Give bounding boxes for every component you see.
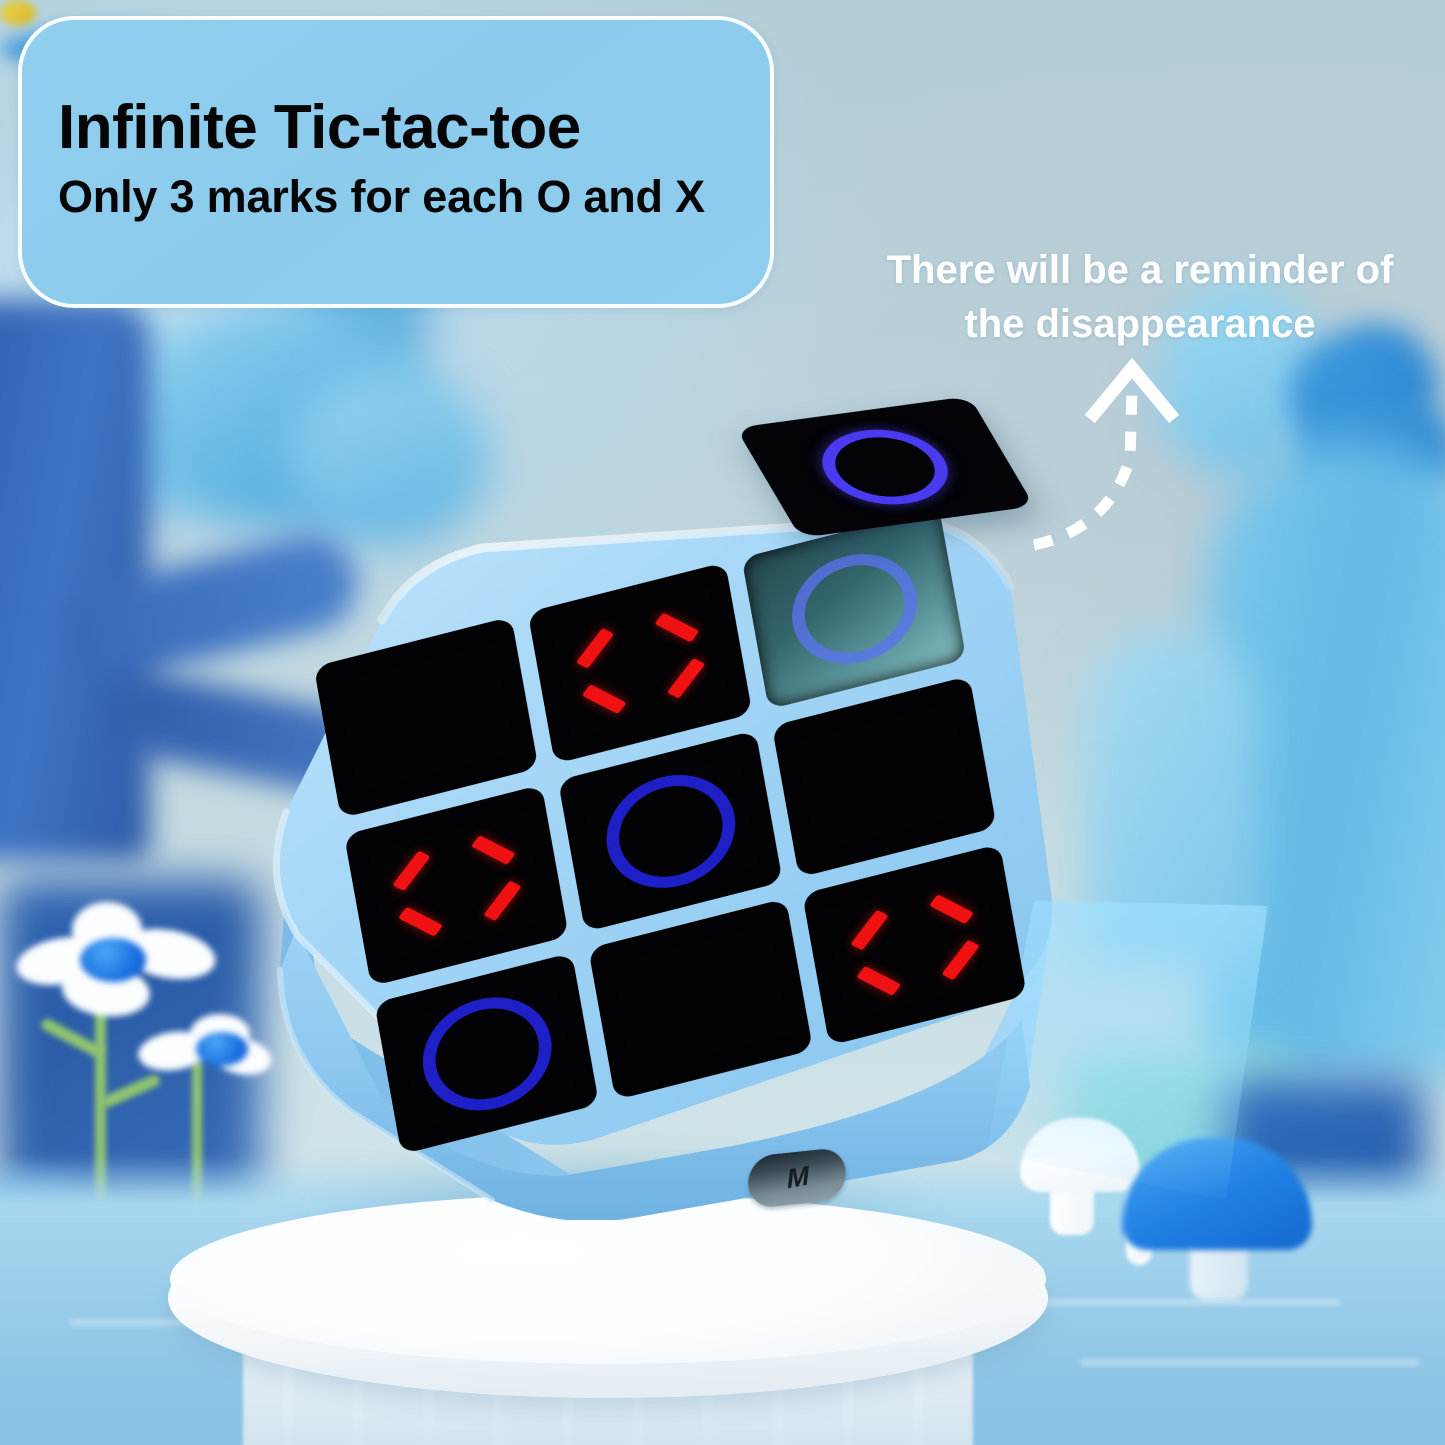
grid-cell-r2c2[interactable] (558, 730, 783, 932)
tic-tac-toe-device[interactable]: M (262, 500, 1122, 1260)
page-subtitle: Only 3 marks for each O and X (58, 171, 705, 223)
grid-cell-r3c1[interactable] (374, 953, 599, 1155)
grid-cell-r2c3[interactable] (772, 676, 997, 878)
callout-line-2: the disappearance (840, 297, 1440, 351)
mark-o-r2c2 (597, 761, 744, 902)
grid-cell-r2c1[interactable] (344, 785, 569, 987)
callout-line-1: There will be a reminder of (840, 243, 1440, 297)
callout-text: There will be a reminder of the disappea… (840, 243, 1440, 351)
mark-x-r1c2 (567, 593, 714, 734)
flower-small (138, 1010, 274, 1096)
brand-logo-text: M (786, 1161, 808, 1195)
background-yellow-leaf (0, 0, 36, 26)
grid-cell-r3c2[interactable] (588, 898, 813, 1100)
page-title: Infinite Tic-tac-toe (58, 92, 581, 163)
water-highlight-c (1080, 1360, 1420, 1365)
title-banner: Infinite Tic-tac-toe Only 3 marks for ea… (18, 16, 774, 308)
mark-x-r2c1 (383, 815, 530, 956)
water-highlight-b (1040, 1300, 1340, 1305)
mark-o-r3c1 (413, 983, 560, 1124)
mark-x-r3c3 (841, 874, 988, 1015)
mark-o-popped (805, 423, 966, 512)
grid-cell-r3c3[interactable] (802, 844, 1027, 1046)
mark-o-r1c3-fading (783, 540, 925, 676)
product-marketing-image: M Infinite Tic-tac-toe Only 3 marks for … (0, 0, 1445, 1445)
